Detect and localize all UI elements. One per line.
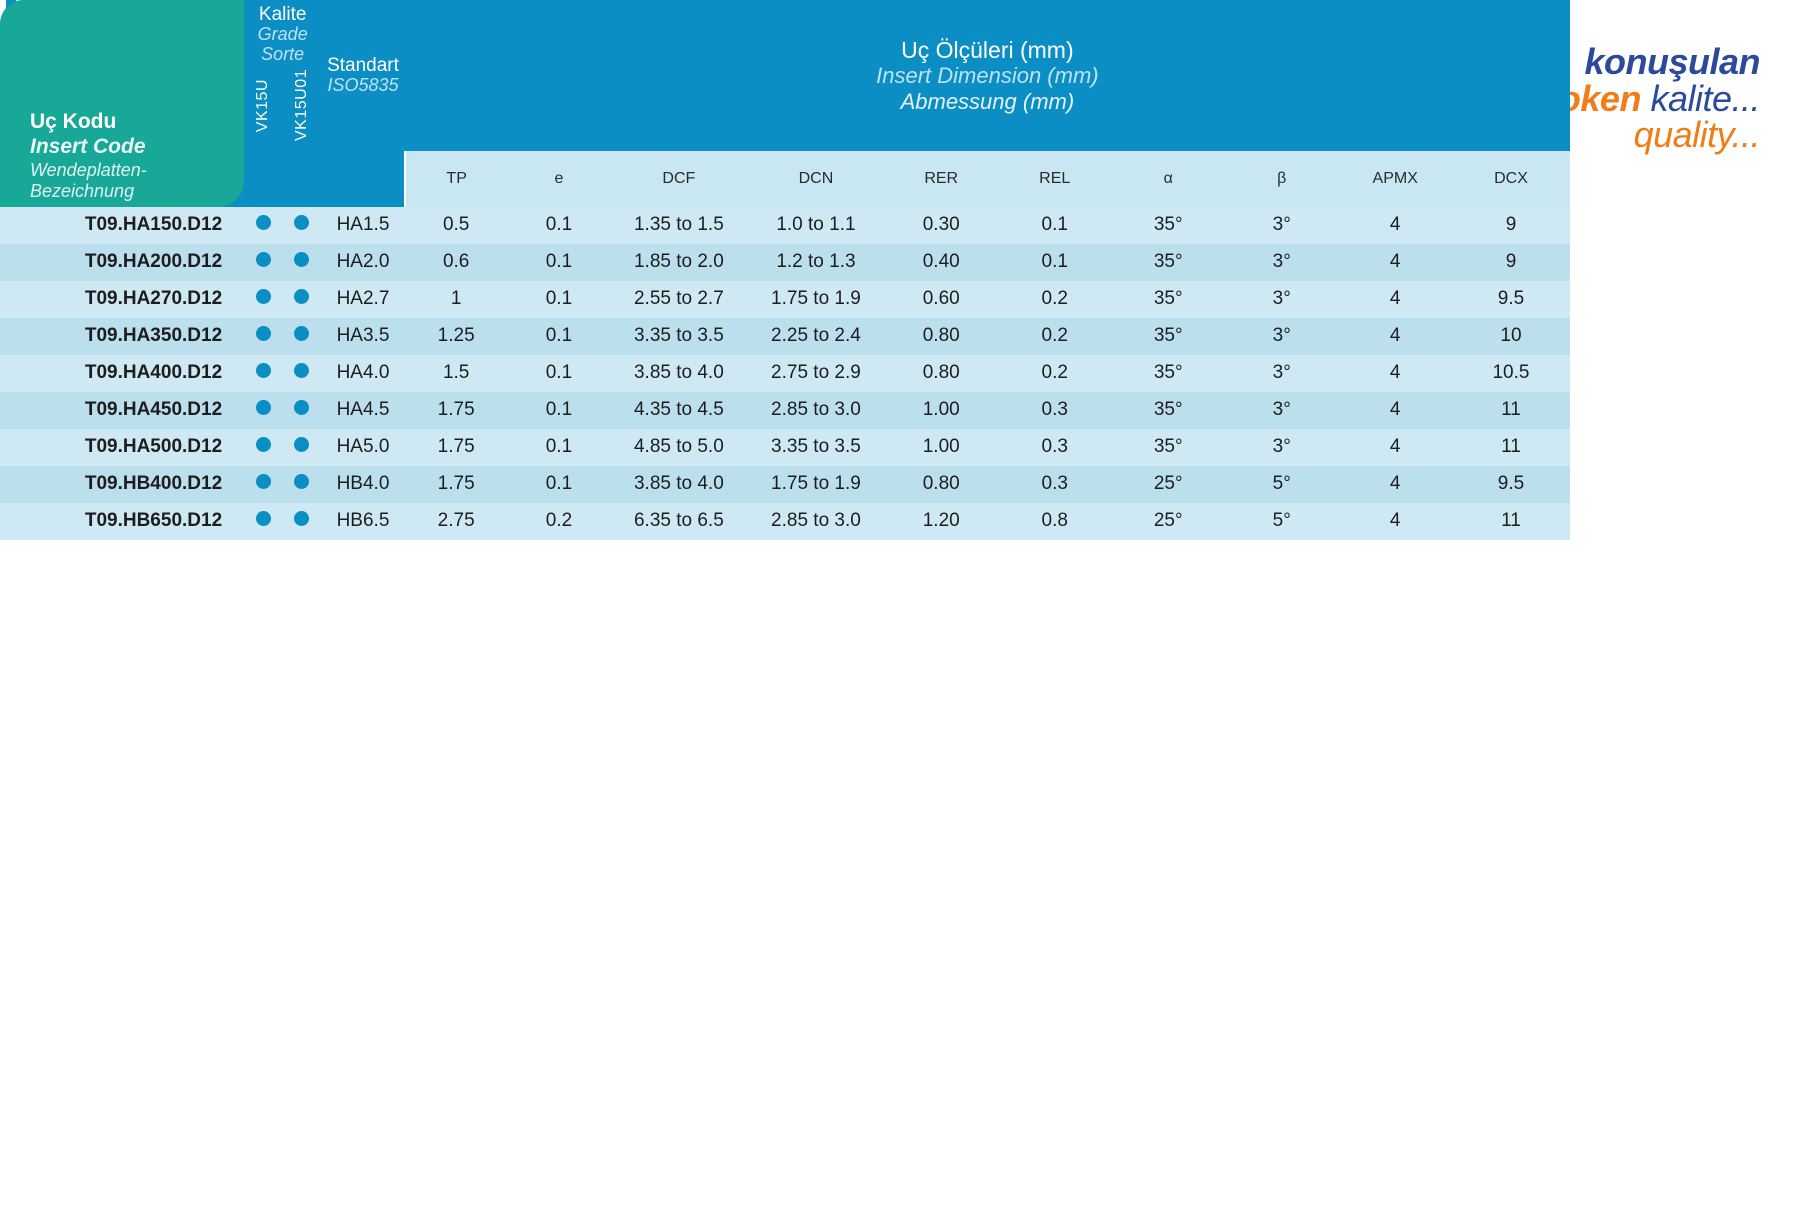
grade-available-dot-icon: [294, 400, 309, 415]
cell-tp: 1.75: [405, 429, 508, 466]
cell-tp: 1.75: [405, 466, 508, 503]
grade-available-dot-icon: [256, 326, 271, 341]
cell-tp: 1.25: [405, 318, 508, 355]
cell-dcn: 2.85 to 3.0: [747, 392, 884, 429]
grade-col-2-label: VK15U01: [293, 69, 311, 141]
cell-grade-2: [283, 503, 322, 540]
cell-beta: 5°: [1225, 503, 1339, 540]
header-standard-tr: Standart: [321, 55, 405, 76]
cell-dcf: 4.85 to 5.0: [610, 429, 747, 466]
cell-rer: 0.80: [884, 466, 998, 503]
spacer-cell: [610, 540, 747, 596]
cell-dcn: 1.75 to 1.9: [747, 466, 884, 503]
cell-dcf: 6.35 to 6.5: [610, 503, 747, 540]
cell-insert-code: T09.HA270.D12: [0, 281, 244, 318]
cell-dcn: 3.35 to 3.5: [747, 429, 884, 466]
cell-grade-2: [283, 318, 322, 355]
cell-rel: 0.3: [998, 392, 1112, 429]
spacer-grade-1: [244, 151, 283, 207]
grade-available-dot-icon: [256, 474, 271, 489]
insert-spec-table: Uç Kodu Insert Code Wendeplatten-Bezeich…: [0, 0, 1570, 596]
col-header-rel: REL: [998, 151, 1112, 207]
cell-dcx: 11: [1452, 503, 1570, 540]
grade-available-dot-icon: [256, 363, 271, 378]
cell-grade-2: [283, 281, 322, 318]
header-dim-en: Insert Dimension (mm): [405, 63, 1570, 89]
cell-dcn: 2.85 to 3.0: [747, 503, 884, 540]
cell-standard: HB4.0: [321, 466, 405, 503]
cell-tp: 1.5: [405, 355, 508, 392]
cell-rel: 0.2: [998, 318, 1112, 355]
grade-available-dot-icon: [294, 289, 309, 304]
cell-e: 0.1: [508, 207, 611, 244]
cell-dcx: 9: [1452, 244, 1570, 281]
header-grade-vk15u: VK15U: [244, 65, 283, 151]
cell-standard: HB6.5: [321, 503, 405, 540]
cell-dcx: 11: [1452, 429, 1570, 466]
cell-e: 0.1: [508, 429, 611, 466]
cell-rel: 0.1: [998, 244, 1112, 281]
cell-grade-2: [283, 392, 322, 429]
cell-rel: 0.2: [998, 355, 1112, 392]
cell-grade-2: [283, 466, 322, 503]
grade-available-dot-icon: [256, 215, 271, 230]
cell-dcf: 1.35 to 1.5: [610, 207, 747, 244]
grade-available-dot-icon: [294, 363, 309, 378]
cell-alpha: 35°: [1111, 207, 1225, 244]
cell-grade-1: [244, 244, 283, 281]
header-grade-vk15u01: VK15U01: [283, 65, 322, 151]
cell-tp: 0.5: [405, 207, 508, 244]
header-code-de: Wendeplatten-Bezeichnung: [30, 160, 230, 203]
spacer-cell: [1111, 540, 1225, 596]
table-footer-spacer: [0, 540, 1570, 596]
cell-alpha: 25°: [1111, 466, 1225, 503]
cell-dcf: 2.55 to 2.7: [610, 281, 747, 318]
spacer-cell: [283, 540, 322, 596]
cell-insert-code: T09.HA400.D12: [0, 355, 244, 392]
cell-alpha: 35°: [1111, 244, 1225, 281]
cell-dcx: 9.5: [1452, 281, 1570, 318]
datasheet-page: AKKO® konuşulan the spoken kalite... qua…: [0, 0, 1800, 1228]
cell-e: 0.1: [508, 466, 611, 503]
cell-alpha: 25°: [1111, 503, 1225, 540]
cell-grade-2: [283, 355, 322, 392]
cell-rer: 0.30: [884, 207, 998, 244]
grade-available-dot-icon: [256, 289, 271, 304]
cell-rer: 0.60: [884, 281, 998, 318]
cell-dcn: 1.0 to 1.1: [747, 207, 884, 244]
cell-alpha: 35°: [1111, 392, 1225, 429]
cell-grade-1: [244, 392, 283, 429]
col-header-alpha: α: [1111, 151, 1225, 207]
cell-grade-1: [244, 318, 283, 355]
spacer-standard: [321, 151, 405, 207]
cell-beta: 3°: [1225, 392, 1339, 429]
grade-available-dot-icon: [294, 326, 309, 341]
col-header-tp: TP: [405, 151, 508, 207]
table-row: T09.HB400.D12HB4.01.750.13.85 to 4.01.75…: [0, 466, 1570, 503]
cell-apmx: 4: [1338, 207, 1452, 244]
cell-beta: 3°: [1225, 207, 1339, 244]
cell-standard: HA2.7: [321, 281, 405, 318]
cell-grade-2: [283, 429, 322, 466]
cell-rer: 0.40: [884, 244, 998, 281]
spacer-cell: [1225, 540, 1339, 596]
table-row: T09.HA400.D12HA4.01.50.13.85 to 4.02.75 …: [0, 355, 1570, 392]
cell-apmx: 4: [1338, 355, 1452, 392]
header-grade: Kalite Grade Sorte: [244, 0, 321, 65]
cell-rel: 0.1: [998, 207, 1112, 244]
grade-available-dot-icon: [294, 511, 309, 526]
spacer-cell: [405, 540, 508, 596]
cell-insert-code: T09.HA150.D12: [0, 207, 244, 244]
table-row: T09.HA350.D12HA3.51.250.13.35 to 3.52.25…: [0, 318, 1570, 355]
table-row: T09.HB650.D12HB6.52.750.26.35 to 6.52.85…: [0, 503, 1570, 540]
table-row: T09.HA270.D12HA2.710.12.55 to 2.71.75 to…: [0, 281, 1570, 318]
table-row: T09.HA150.D12HA1.50.50.11.35 to 1.51.0 t…: [0, 207, 1570, 244]
cell-e: 0.1: [508, 355, 611, 392]
cell-dcx: 10: [1452, 318, 1570, 355]
cell-grade-1: [244, 429, 283, 466]
table-row: T09.HA500.D12HA5.01.750.14.85 to 5.03.35…: [0, 429, 1570, 466]
cell-e: 0.1: [508, 281, 611, 318]
tagline-kalite: kalite...: [1650, 78, 1760, 119]
header-dim-tr: Uç Ölçüleri (mm): [405, 37, 1570, 64]
header-standard: Standart ISO5835: [321, 0, 405, 151]
cell-apmx: 4: [1338, 503, 1452, 540]
cell-e: 0.1: [508, 244, 611, 281]
grade-available-dot-icon: [294, 437, 309, 452]
cell-dcn: 2.25 to 2.4: [747, 318, 884, 355]
cell-rer: 0.80: [884, 318, 998, 355]
col-header-beta: β: [1225, 151, 1339, 207]
grade-col-1-label: VK15U: [254, 79, 272, 132]
cell-dcf: 3.35 to 3.5: [610, 318, 747, 355]
cell-dcx: 9: [1452, 207, 1570, 244]
cell-grade-1: [244, 281, 283, 318]
col-header-rer: RER: [884, 151, 998, 207]
cell-apmx: 4: [1338, 244, 1452, 281]
cell-rer: 1.00: [884, 429, 998, 466]
col-header-apmx: APMX: [1338, 151, 1452, 207]
cell-dcn: 2.75 to 2.9: [747, 355, 884, 392]
header-insert-code: Uç Kodu Insert Code Wendeplatten-Bezeich…: [0, 0, 244, 207]
cell-grade-1: [244, 355, 283, 392]
spacer-cell: [1338, 540, 1452, 596]
cell-dcf: 1.85 to 2.0: [610, 244, 747, 281]
spacer-cell: [508, 540, 611, 596]
col-header-dcn: DCN: [747, 151, 884, 207]
cell-beta: 5°: [1225, 466, 1339, 503]
cell-dcx: 11: [1452, 392, 1570, 429]
cell-beta: 3°: [1225, 318, 1339, 355]
spacer-cell: [998, 540, 1112, 596]
cell-standard: HA4.0: [321, 355, 405, 392]
cell-e: 0.1: [508, 318, 611, 355]
cell-tp: 1.75: [405, 392, 508, 429]
grade-available-dot-icon: [294, 252, 309, 267]
cell-tp: 1: [405, 281, 508, 318]
cell-rer: 1.00: [884, 392, 998, 429]
table-header-row-1: Uç Kodu Insert Code Wendeplatten-Bezeich…: [0, 0, 1570, 65]
header-dim-de: Abmessung (mm): [405, 89, 1570, 115]
cell-rer: 1.20: [884, 503, 998, 540]
cell-apmx: 4: [1338, 429, 1452, 466]
cell-dcx: 9.5: [1452, 466, 1570, 503]
cell-dcn: 1.2 to 1.3: [747, 244, 884, 281]
grade-available-dot-icon: [294, 215, 309, 230]
cell-standard: HA4.5: [321, 392, 405, 429]
cell-insert-code: T09.HA450.D12: [0, 392, 244, 429]
grade-available-dot-icon: [256, 252, 271, 267]
header-grade-de: Sorte: [244, 45, 321, 65]
col-header-dcf: DCF: [610, 151, 747, 207]
grade-available-dot-icon: [256, 400, 271, 415]
cell-alpha: 35°: [1111, 355, 1225, 392]
spacer-cell: [244, 540, 283, 596]
cell-grade-1: [244, 466, 283, 503]
cell-rel: 0.3: [998, 466, 1112, 503]
cell-dcn: 1.75 to 1.9: [747, 281, 884, 318]
header-code-tr: Uç Kodu: [30, 110, 230, 135]
spacer-cell: [321, 540, 405, 596]
header-dimensions: Uç Ölçüleri (mm) Insert Dimension (mm) A…: [405, 0, 1570, 151]
cell-grade-1: [244, 503, 283, 540]
cell-dcf: 4.35 to 4.5: [610, 392, 747, 429]
table-row: T09.HA200.D12HA2.00.60.11.85 to 2.01.2 t…: [0, 244, 1570, 281]
cell-e: 0.1: [508, 392, 611, 429]
cell-alpha: 35°: [1111, 318, 1225, 355]
cell-grade-1: [244, 207, 283, 244]
cell-grade-2: [283, 207, 322, 244]
grade-available-dot-icon: [256, 437, 271, 452]
spacer-grade-2: [283, 151, 322, 207]
cell-apmx: 4: [1338, 392, 1452, 429]
cell-alpha: 35°: [1111, 281, 1225, 318]
grade-available-dot-icon: [256, 511, 271, 526]
cell-insert-code: T09.HB400.D12: [0, 466, 244, 503]
cell-rel: 0.8: [998, 503, 1112, 540]
cell-insert-code: T09.HA200.D12: [0, 244, 244, 281]
cell-beta: 3°: [1225, 429, 1339, 466]
col-header-dcx: DCX: [1452, 151, 1570, 207]
cell-standard: HA1.5: [321, 207, 405, 244]
header-grade-en: Grade: [244, 25, 321, 45]
cell-dcx: 10.5: [1452, 355, 1570, 392]
col-header-e: e: [508, 151, 611, 207]
cell-insert-code: T09.HA500.D12: [0, 429, 244, 466]
spacer-cell: [747, 540, 884, 596]
table-row: T09.HA450.D12HA4.51.750.14.35 to 4.52.85…: [0, 392, 1570, 429]
header-standard-code: ISO5835: [321, 76, 405, 96]
cell-rel: 0.2: [998, 281, 1112, 318]
cell-dcf: 3.85 to 4.0: [610, 466, 747, 503]
cell-apmx: 4: [1338, 466, 1452, 503]
spacer-cell: [1452, 540, 1570, 596]
cell-standard: HA2.0: [321, 244, 405, 281]
grade-available-dot-icon: [294, 474, 309, 489]
table-body: T09.HA150.D12HA1.50.50.11.35 to 1.51.0 t…: [0, 207, 1570, 596]
cell-insert-code: T09.HA350.D12: [0, 318, 244, 355]
cell-dcf: 3.85 to 4.0: [610, 355, 747, 392]
cell-standard: HA5.0: [321, 429, 405, 466]
spacer-cell: [884, 540, 998, 596]
cell-tp: 2.75: [405, 503, 508, 540]
cell-apmx: 4: [1338, 281, 1452, 318]
cell-alpha: 35°: [1111, 429, 1225, 466]
cell-rel: 0.3: [998, 429, 1112, 466]
cell-beta: 3°: [1225, 355, 1339, 392]
cell-rer: 0.80: [884, 355, 998, 392]
cell-apmx: 4: [1338, 318, 1452, 355]
header-code-en: Insert Code: [30, 135, 230, 160]
header-grade-tr: Kalite: [244, 0, 321, 25]
spacer-cell: [0, 540, 244, 596]
cell-beta: 3°: [1225, 244, 1339, 281]
cell-insert-code: T09.HB650.D12: [0, 503, 244, 540]
cell-standard: HA3.5: [321, 318, 405, 355]
cell-beta: 3°: [1225, 281, 1339, 318]
cell-e: 0.2: [508, 503, 611, 540]
cell-tp: 0.6: [405, 244, 508, 281]
cell-grade-2: [283, 244, 322, 281]
